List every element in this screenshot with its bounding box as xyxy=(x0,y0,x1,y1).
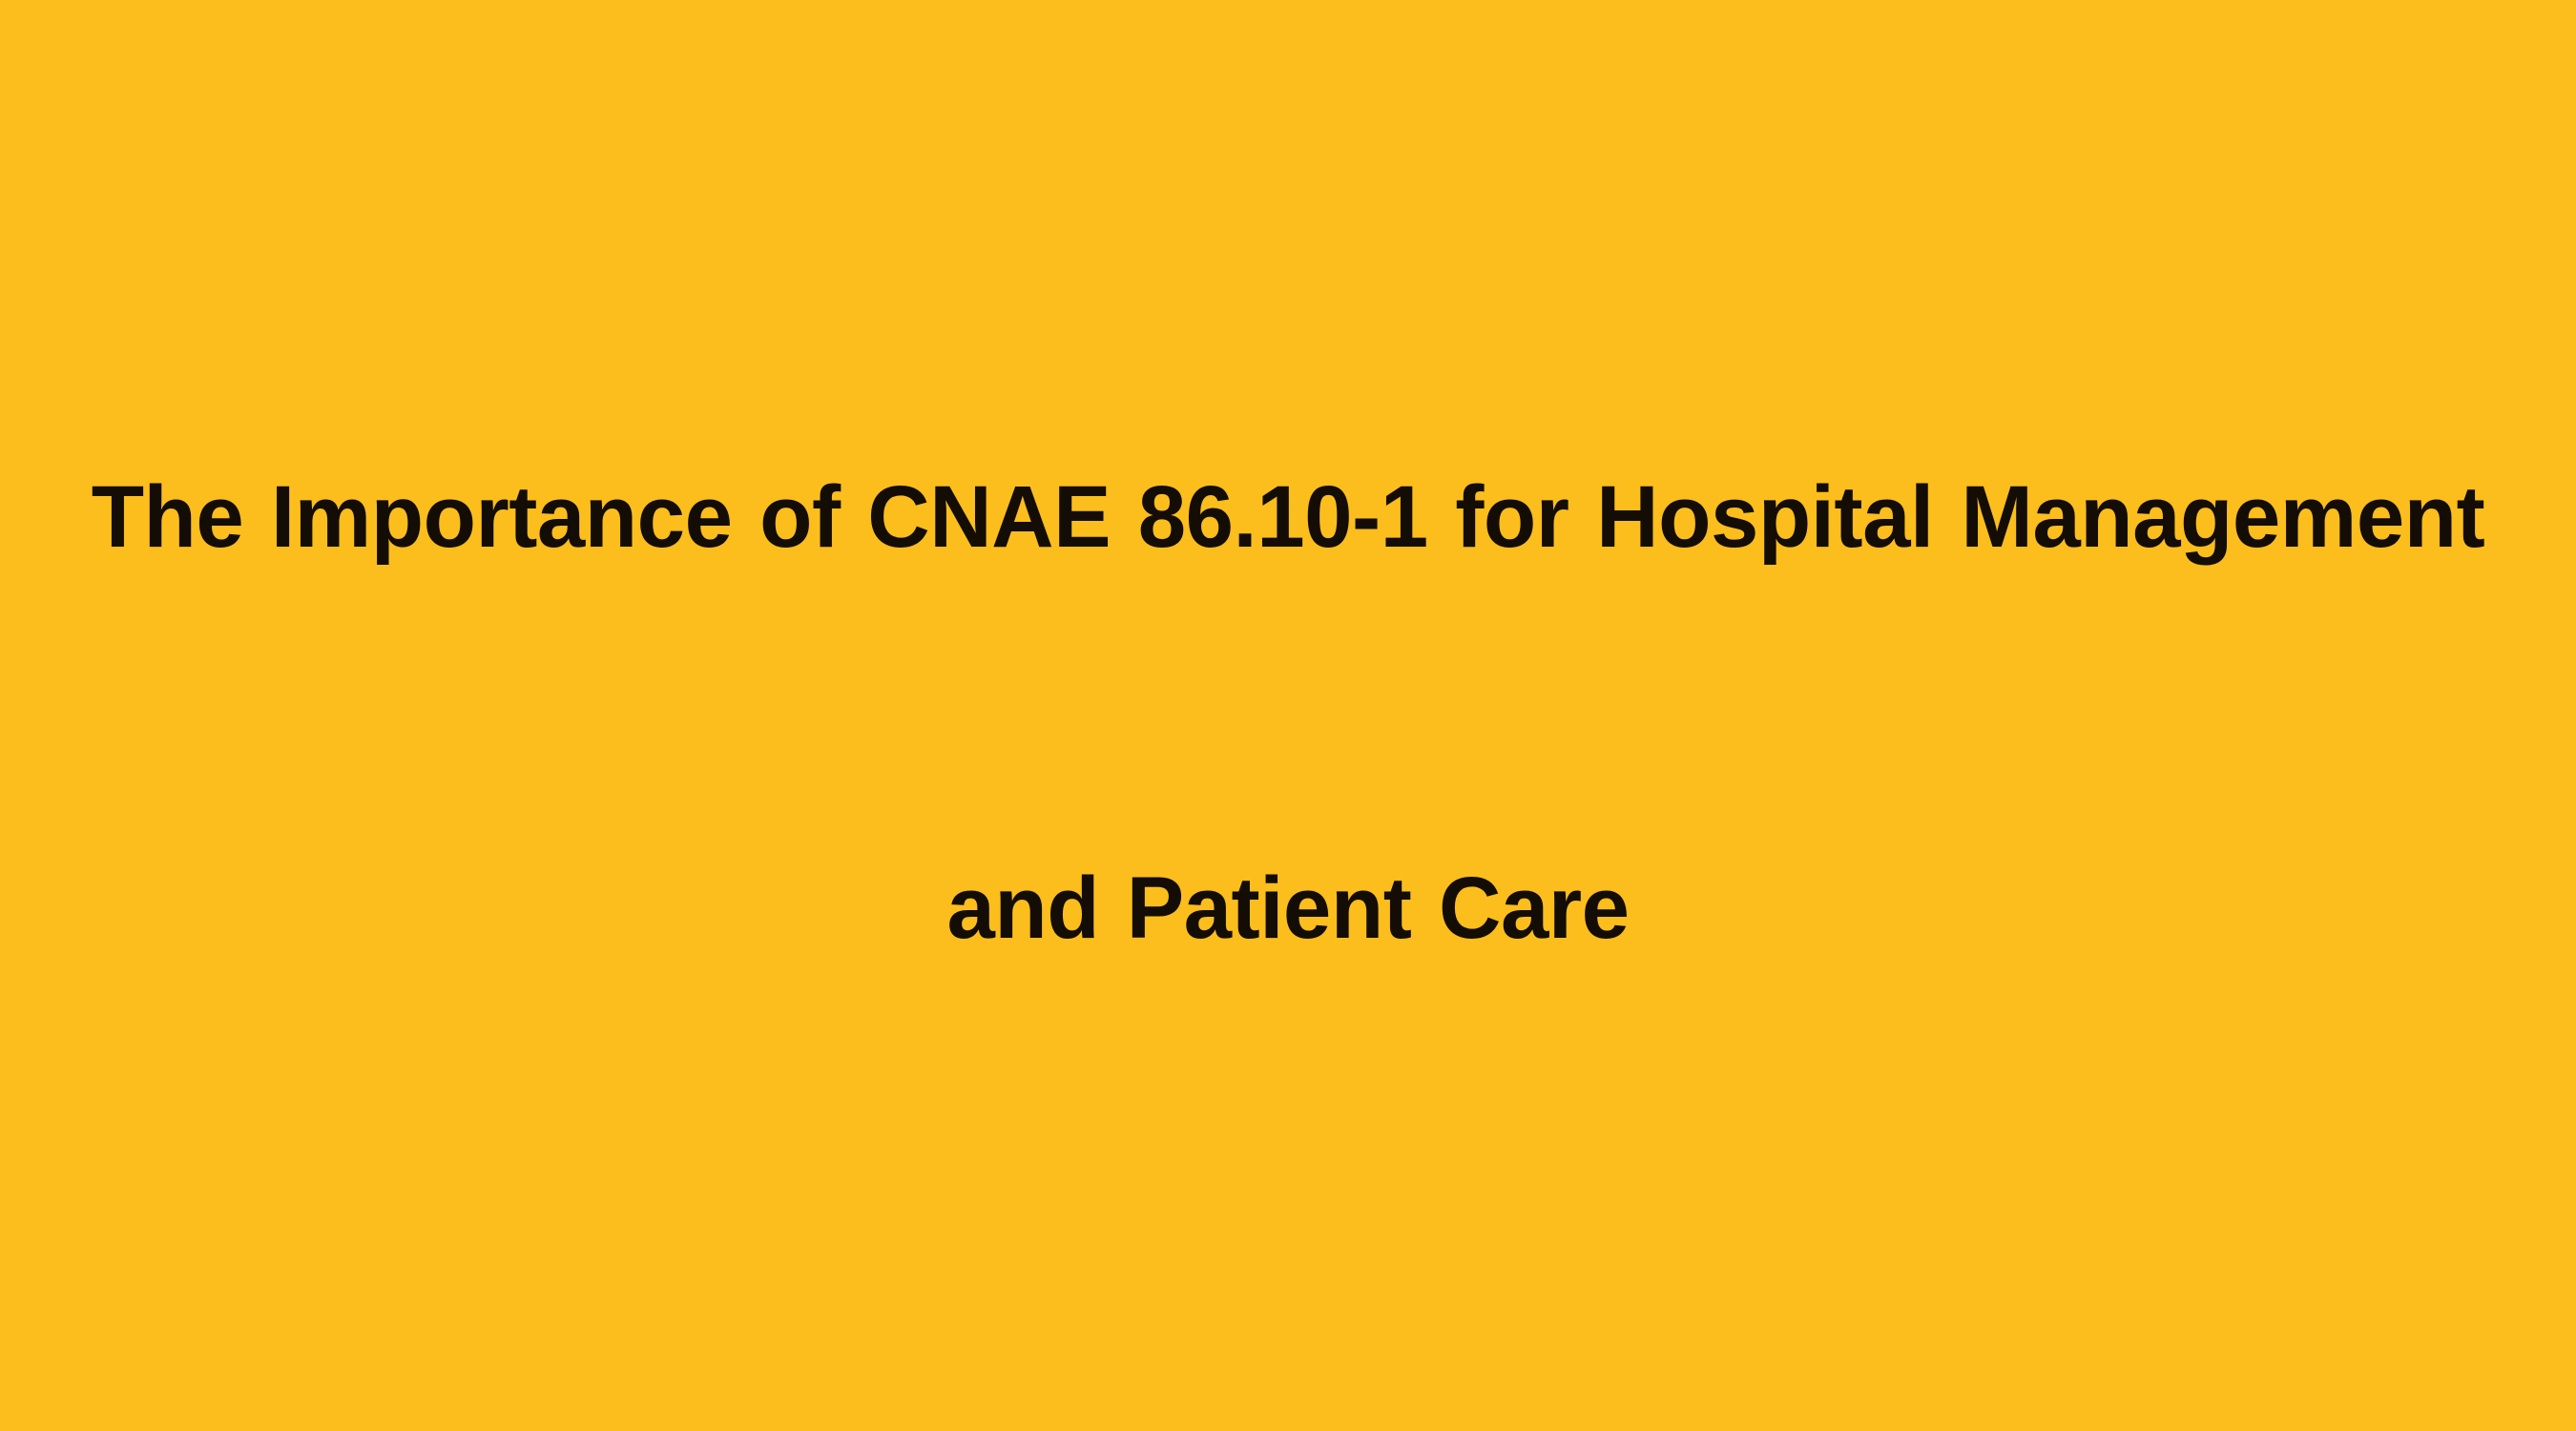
title-card-canvas: The Importance of CNAE 86.10-1 for Hospi… xyxy=(0,0,2576,1431)
page-title: The Importance of CNAE 86.10-1 for Hospi… xyxy=(57,224,2520,1202)
headline-block: The Importance of CNAE 86.10-1 for Hospi… xyxy=(0,224,2576,1202)
page-title-line-2: and Patient Care xyxy=(57,811,2520,1006)
page-title-line-1: The Importance of CNAE 86.10-1 for Hospi… xyxy=(57,420,2520,615)
